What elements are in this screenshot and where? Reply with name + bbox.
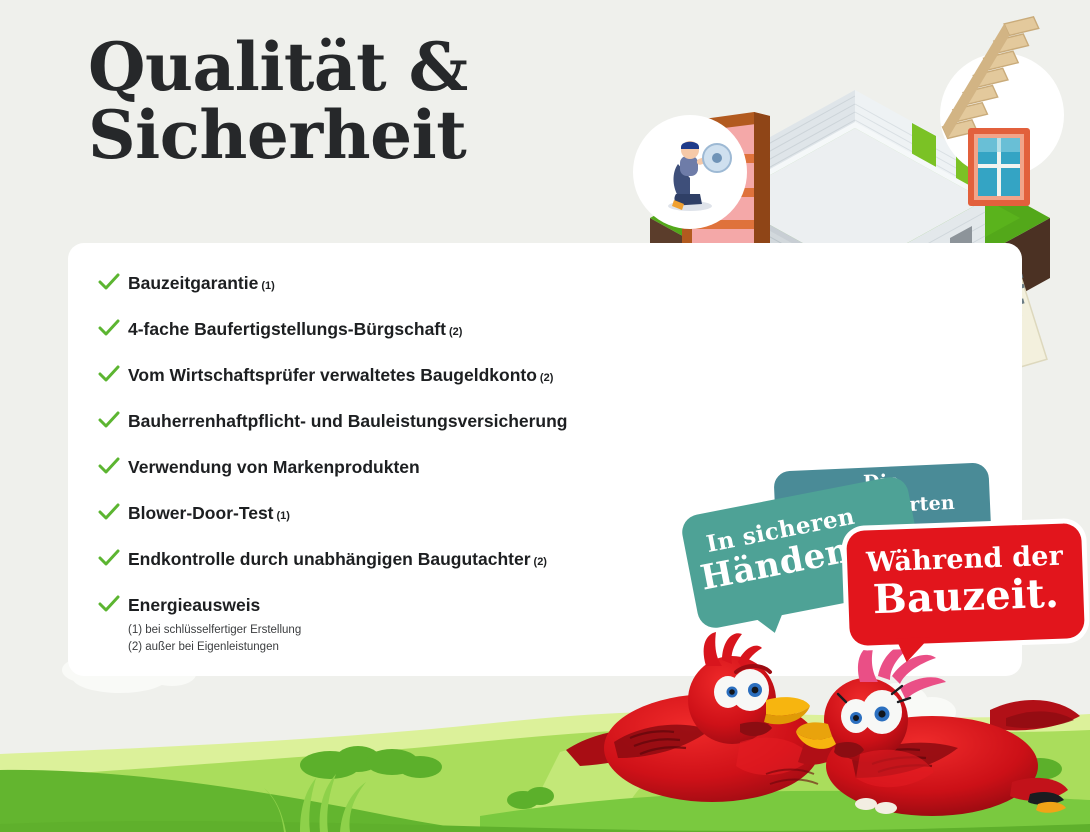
bubble-red-line2: Bauzeit. — [848, 569, 1084, 624]
bird-mascots — [560, 632, 1090, 832]
check-icon — [98, 594, 128, 613]
footnote-line-1: (1) bei schlüsselfertiger Erstellung — [128, 622, 301, 639]
checklist-item-label: Energieausweis — [128, 594, 263, 618]
check-icon — [98, 456, 128, 475]
bird-left — [566, 632, 846, 802]
checklist-item: Vom Wirtschaftsprüfer verwaltetes Baugel… — [98, 364, 798, 410]
checklist-item-label: Verwendung von Markenprodukten — [128, 456, 423, 480]
bubble-tail — [896, 637, 931, 662]
checklist-item: Bauzeitgarantie(1) — [98, 272, 798, 318]
footnote-line-2: (2) außer bei Eigenleistungen — [128, 639, 301, 656]
check-icon — [98, 502, 128, 521]
page-title: Qualität & Sicherheit — [88, 34, 648, 170]
check-icon — [98, 548, 128, 567]
checklist-item-label: Bauherrenhaftpflicht- und Bauleistungsve… — [128, 410, 571, 434]
checklist-item-label: Vom Wirtschaftsprüfer verwaltetes Baugel… — [128, 364, 553, 388]
infographic-stage: Qualität & Sicherheit — [0, 0, 1090, 832]
checklist-item-label: Bauzeitgarantie(1) — [128, 272, 275, 296]
check-icon — [98, 410, 128, 429]
footnotes: (1) bei schlüsselfertiger Erstellung (2)… — [128, 622, 301, 656]
check-icon — [98, 318, 128, 337]
tail-tip-icon — [1028, 792, 1066, 813]
check-icon — [98, 272, 128, 291]
checklist-item-label: 4-fache Baufertigstellungs-Bürgschaft(2) — [128, 318, 462, 342]
bird-right — [796, 644, 1080, 816]
bubble-red: Während der Bauzeit. — [846, 523, 1085, 646]
checklist-item-label: Endkontrolle durch unabhängigen Baugutac… — [128, 548, 547, 572]
check-icon — [98, 364, 128, 383]
checklist-item: 4-fache Baufertigstellungs-Bürgschaft(2) — [98, 318, 798, 364]
window-icon — [968, 128, 1030, 206]
checklist-item-label: Blower-Door-Test(1) — [128, 502, 290, 526]
checklist-item: Bauherrenhaftpflicht- und Bauleistungsve… — [98, 410, 798, 456]
